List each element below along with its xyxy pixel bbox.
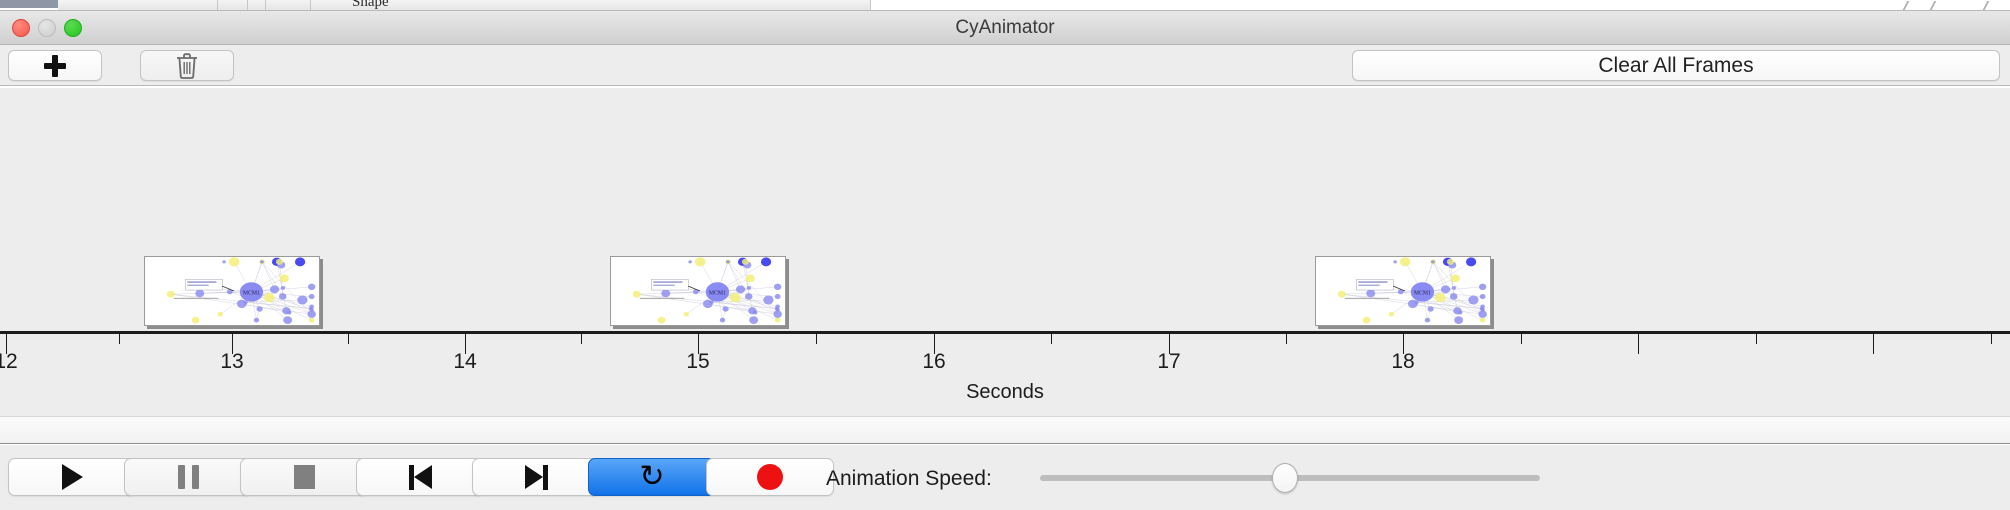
frame-thumbnail-3[interactable]: MCM1: [1315, 256, 1491, 326]
skip-to-start-button[interactable]: [356, 458, 484, 496]
axis-tick-label: 13: [220, 350, 243, 374]
background-mark: [1983, 1, 1998, 10]
timeline-top-edge: [0, 86, 2010, 88]
axis-tick: [1051, 334, 1052, 344]
pause-button[interactable]: [124, 458, 252, 496]
axis-tick: [348, 334, 349, 344]
delete-frame-button[interactable]: [140, 50, 234, 81]
record-icon: [757, 464, 783, 490]
axis-tick: [1521, 334, 1522, 344]
animation-speed-label: Animation Speed:: [826, 467, 992, 491]
plus-icon: [44, 55, 66, 77]
play-button[interactable]: [8, 458, 136, 496]
svg-text:MCM1: MCM1: [709, 290, 726, 296]
toolbar: Clear All Frames: [0, 45, 2010, 86]
window-title: CyAnimator: [0, 11, 2010, 45]
svg-text:MCM1: MCM1: [1414, 290, 1431, 296]
time-axis-line: [0, 331, 2010, 334]
clear-all-frames-button[interactable]: Clear All Frames: [1352, 50, 2000, 81]
add-frame-button[interactable]: [8, 50, 102, 81]
cyanimator-window: Shape CyAnimator Clear All Frames: [0, 0, 2010, 510]
axis-tick: [1638, 334, 1639, 354]
axis-tick: [119, 334, 120, 344]
axis-tick: [581, 334, 582, 344]
title-bar: CyAnimator: [0, 11, 2010, 45]
animation-speed-slider-thumb[interactable]: [1272, 463, 1298, 493]
play-icon: [62, 464, 83, 490]
stop-icon: [294, 465, 315, 489]
axis-tick: [1286, 334, 1287, 344]
background-window-sliver: Shape: [0, 0, 2010, 11]
clear-all-frames-label: Clear All Frames: [1598, 54, 1753, 78]
stop-button[interactable]: [240, 458, 368, 496]
svg-text:MCM1: MCM1: [243, 290, 260, 296]
trash-icon: [175, 53, 199, 79]
loop-button[interactable]: ↻: [588, 458, 716, 496]
axis-tick: [1991, 334, 1992, 344]
playback-bar: ↻ Animation Speed:: [0, 445, 2010, 510]
axis-tick-label: 12: [0, 350, 18, 374]
loop-icon: ↻: [639, 462, 664, 492]
pause-icon: [178, 465, 199, 489]
axis-tick-label: 15: [686, 350, 709, 374]
axis-tick-label: 16: [922, 350, 945, 374]
skip-to-end-button[interactable]: [472, 458, 600, 496]
axis-tick-label: 17: [1157, 350, 1180, 374]
axis-tick: [816, 334, 817, 344]
axis-tick: [1756, 334, 1757, 344]
axis-tick-label: 18: [1391, 350, 1414, 374]
frame-thumbnail-2[interactable]: MCM1: [610, 256, 786, 326]
background-mark: [1930, 1, 1945, 10]
axis-tick-label: 14: [453, 350, 476, 374]
skip-forward-icon: [525, 465, 548, 490]
axis-title: Seconds: [0, 381, 2010, 404]
background-mark: [1903, 1, 1918, 10]
frame-thumbnail-1[interactable]: MCM1: [144, 256, 320, 326]
axis-tick: [1873, 334, 1874, 354]
skip-back-icon: [409, 465, 432, 490]
record-button[interactable]: [706, 458, 834, 496]
timeline-panel[interactable]: MCM1MCM1MCM1 12131415161718 Seconds: [0, 86, 2010, 416]
timeline-scrollbar-track[interactable]: [0, 416, 2010, 444]
background-selected-tab: [0, 0, 58, 8]
